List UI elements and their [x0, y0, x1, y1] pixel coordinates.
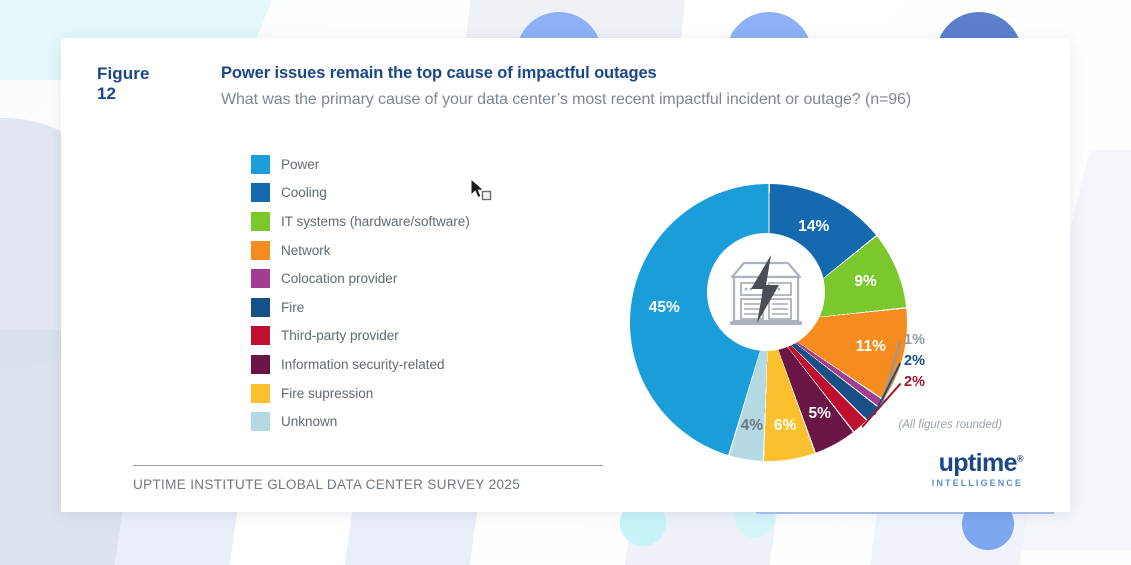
slice-label: 5% — [808, 405, 830, 423]
slice-label: 6% — [774, 417, 796, 435]
slice-callout-label: 2% — [904, 374, 925, 390]
legend-item-label: Fire — [281, 300, 304, 315]
legend-item[interactable]: Third-party provider — [251, 322, 470, 351]
figure-number-label: Figure 12 — [97, 64, 150, 104]
legend-swatch — [251, 183, 270, 202]
legend-item[interactable]: Cooling — [251, 179, 470, 208]
slice-label: 11% — [856, 338, 886, 356]
legend-item-label: Colocation provider — [281, 271, 397, 286]
legend-item[interactable]: Power — [251, 150, 470, 179]
legend-swatch — [251, 355, 270, 374]
bg-shape-bottom-2 — [337, 508, 477, 565]
legend-item[interactable]: IT systems (hardware/software) — [251, 207, 470, 236]
figure-card: Figure 12 Power issues remain the top ca… — [61, 38, 1070, 512]
legend-item-label: Fire supression — [281, 386, 373, 401]
slice-label: 4% — [741, 417, 763, 435]
bg-shape-bottom-1 — [107, 508, 237, 565]
legend-item-label: Unknown — [281, 414, 337, 429]
chart-legend: PowerCoolingIT systems (hardware/softwar… — [251, 150, 470, 436]
legend-swatch — [251, 212, 270, 231]
legend-swatch — [251, 241, 270, 260]
legend-item[interactable]: Colocation provider — [251, 264, 470, 293]
figure-title: Power issues remain the top cause of imp… — [221, 64, 911, 83]
legend-item-label: Third-party provider — [281, 328, 399, 343]
legend-item[interactable]: Fire supression — [251, 379, 470, 408]
source-caption: UPTIME INSTITUTE GLOBAL DATA CENTER SURV… — [133, 477, 520, 492]
legend-item[interactable]: Information security-related — [251, 350, 470, 379]
logo-wordmark-text: uptime — [939, 449, 1017, 477]
slice-callout-label: 1% — [904, 332, 925, 348]
legend-item[interactable]: Unknown — [251, 407, 470, 436]
logo-subtext: INTELLIGENCE — [932, 478, 1023, 488]
legend-swatch — [251, 384, 270, 403]
legend-swatch — [251, 326, 270, 345]
legend-swatch — [251, 155, 270, 174]
uptime-intelligence-logo: uptime® INTELLIGENCE — [932, 451, 1023, 488]
donut-chart: 14%9%11%1%2%2%5%6%4%45% — [566, 142, 966, 442]
figure-title-block: Power issues remain the top cause of imp… — [221, 64, 911, 109]
legend-item-label: Network — [281, 243, 331, 258]
data-center-lightning-icon — [724, 253, 808, 331]
legend-swatch — [251, 412, 270, 431]
legend-item-label: IT systems (hardware/software) — [281, 214, 470, 229]
legend-swatch — [251, 298, 270, 317]
legend-item[interactable]: Network — [251, 236, 470, 265]
footer-divider — [133, 465, 603, 466]
legend-item-label: Cooling — [281, 185, 327, 200]
legend-item-label: Power — [281, 157, 319, 172]
legend-item[interactable]: Fire — [251, 293, 470, 322]
logo-wordmark: uptime® — [932, 451, 1023, 476]
slice-label: 9% — [854, 273, 876, 291]
legend-swatch — [251, 269, 270, 288]
rounded-figures-note: (All figures rounded) — [898, 419, 1002, 431]
figure-subtitle: What was the primary cause of your data … — [221, 91, 911, 109]
logo-trademark: ® — [1017, 454, 1023, 464]
slice-label: 45% — [649, 299, 680, 317]
slice-callout-label: 2% — [904, 353, 925, 369]
legend-item-label: Information security-related — [281, 357, 445, 372]
slice-label: 14% — [798, 218, 829, 236]
